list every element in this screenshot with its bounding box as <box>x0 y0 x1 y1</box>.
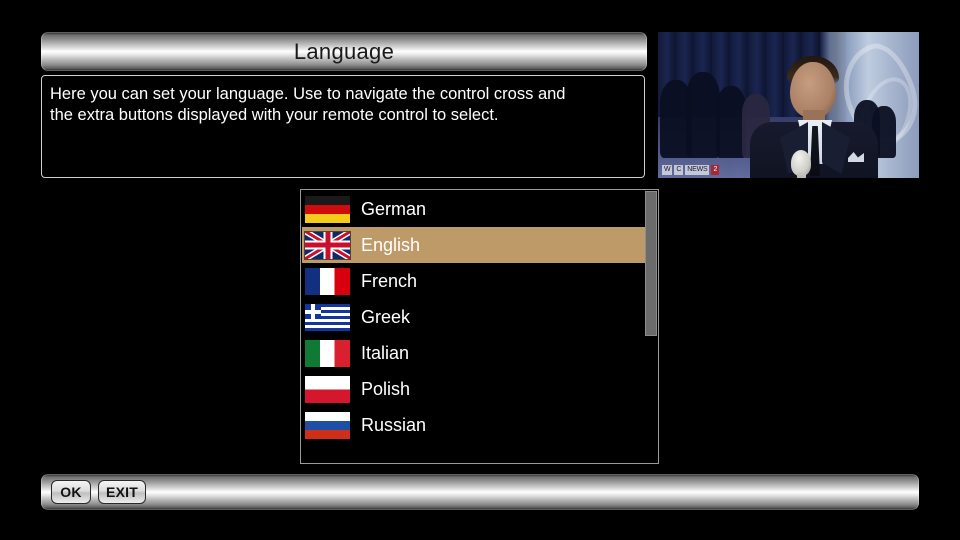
broadcast-watermark: W C NEWS 2 <box>662 165 719 175</box>
video-preview[interactable]: W C NEWS 2 <box>658 32 919 178</box>
list-item-label: English <box>361 236 420 254</box>
scrollbar-thumb[interactable] <box>645 191 657 336</box>
list-item-italian[interactable]: Italian <box>302 335 647 371</box>
bottom-action-bar <box>41 474 919 510</box>
watermark-part: NEWS <box>685 165 709 175</box>
microphone-stem <box>797 172 806 178</box>
list-item-english[interactable]: English <box>302 227 647 263</box>
list-item-label: Italian <box>361 344 409 362</box>
language-list-panel[interactable]: German English French Greek <box>300 189 659 464</box>
italian-flag-icon <box>305 340 350 367</box>
watermark-part: W <box>662 165 672 175</box>
greek-flag-icon <box>305 304 350 331</box>
uk-flag-icon <box>305 232 350 259</box>
list-item-polish[interactable]: Polish <box>302 371 647 407</box>
list-item-label: Greek <box>361 308 410 326</box>
description-box: Here you can set your language. Use to n… <box>41 75 645 178</box>
watermark-part: 2 <box>711 165 719 175</box>
exit-button[interactable]: EXIT <box>98 480 146 504</box>
watermark-part: C <box>674 165 683 175</box>
ok-button[interactable]: OK <box>51 480 91 504</box>
list-item-label: Russian <box>361 416 426 434</box>
list-scrollbar[interactable] <box>645 191 657 462</box>
polish-flag-icon <box>305 376 350 403</box>
list-item-label: French <box>361 272 417 290</box>
list-item-greek[interactable]: Greek <box>302 299 647 335</box>
list-item-french[interactable]: French <box>302 263 647 299</box>
page-title: Language <box>41 41 647 63</box>
list-item-label: Polish <box>361 380 410 398</box>
tv-settings-screen: Language Here you can set your language.… <box>0 0 960 540</box>
russian-flag-icon <box>305 412 350 439</box>
list-item-russian[interactable]: Russian <box>302 407 647 443</box>
title-bar: Language <box>41 32 647 71</box>
list-item-german[interactable]: German <box>302 191 647 227</box>
description-text: Here you can set your language. Use to n… <box>50 84 634 126</box>
crowd-silhouette <box>686 72 720 158</box>
french-flag-icon <box>305 268 350 295</box>
list-item-label: German <box>361 200 426 218</box>
language-list: German English French Greek <box>302 191 647 443</box>
german-flag-icon <box>305 196 350 223</box>
